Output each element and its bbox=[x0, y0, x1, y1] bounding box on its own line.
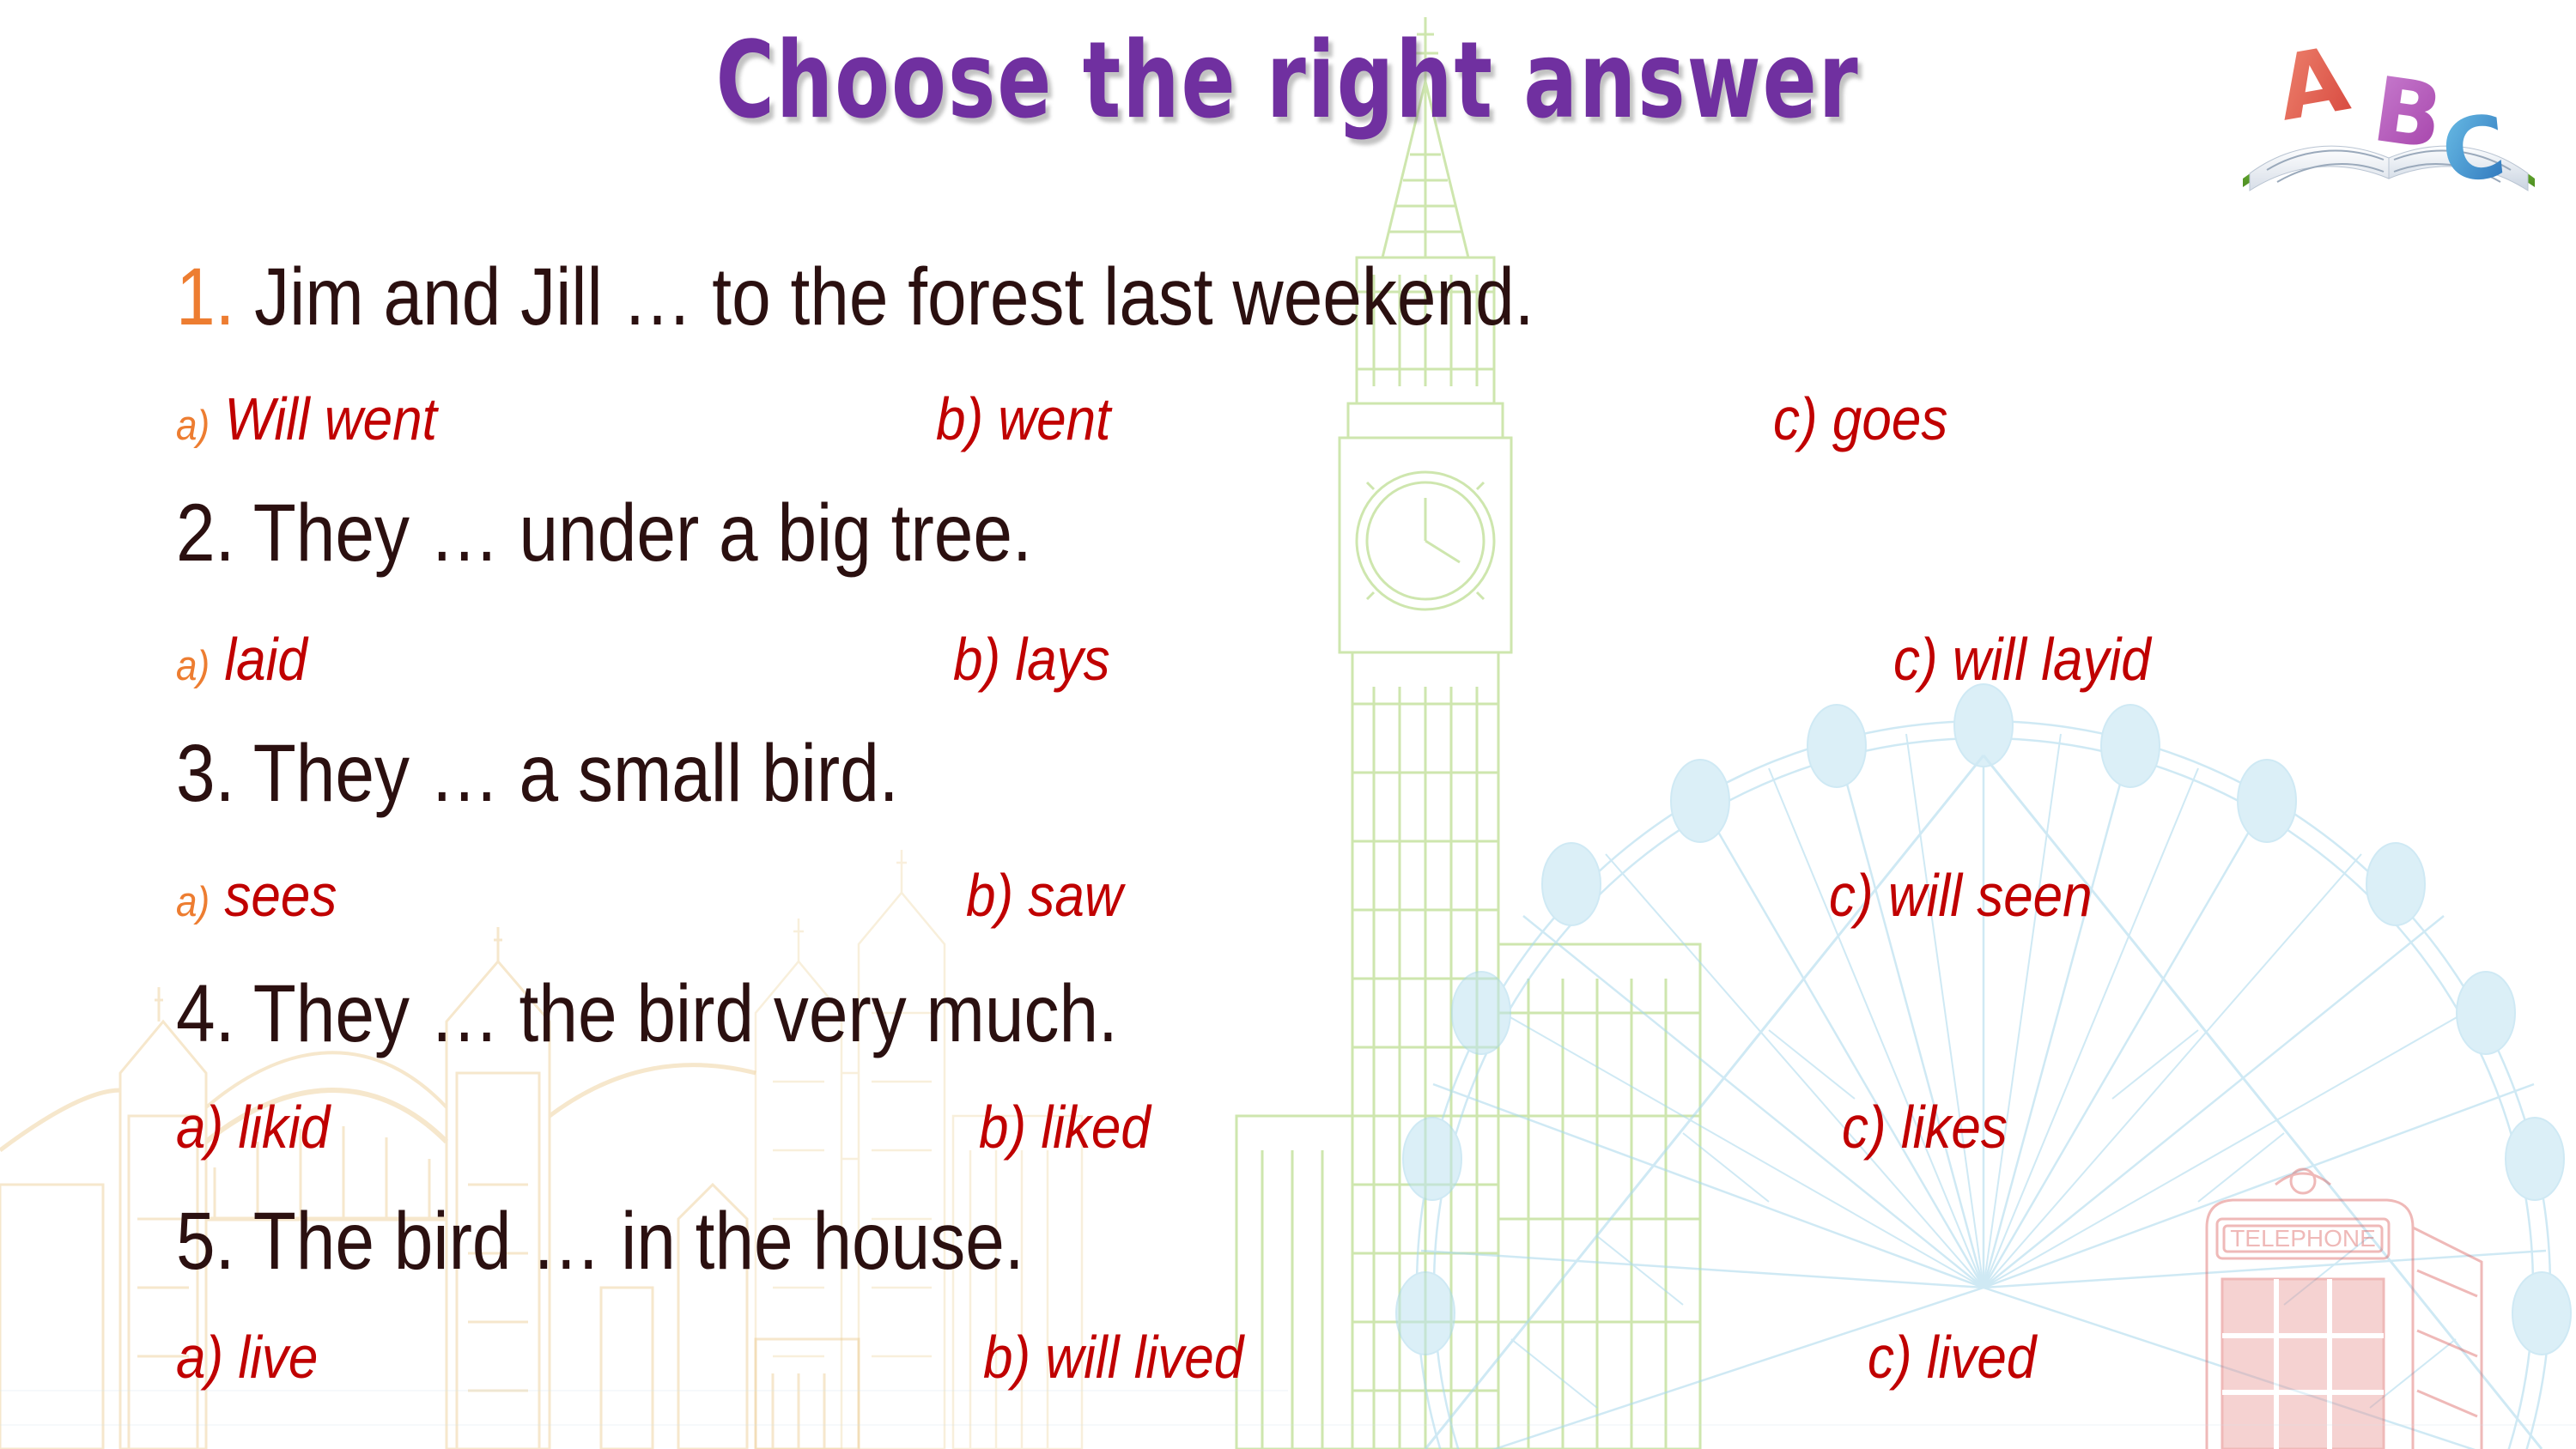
question-sentence: Jim and Jill … to the forest last weeken… bbox=[234, 252, 1534, 343]
option-text: Will went bbox=[210, 387, 437, 453]
option-label: a) bbox=[176, 878, 210, 925]
option-text: live bbox=[223, 1325, 318, 1391]
question-text: 1. Jim and Jill … to the forest last wee… bbox=[176, 258, 1534, 338]
option-text: likid bbox=[223, 1095, 330, 1161]
page-title: Choose the right answer bbox=[0, 19, 2576, 115]
option-label: c) bbox=[1773, 387, 1818, 453]
option-text: lays bbox=[1000, 627, 1109, 694]
option-text: goes bbox=[1818, 387, 1948, 453]
question-sentence: They … under a big tree. bbox=[234, 488, 1031, 579]
answer-option-c[interactable]: c) will layid bbox=[1893, 631, 2151, 690]
question-number: 2. bbox=[176, 488, 234, 579]
abc-book-icon: A B C bbox=[2233, 10, 2559, 199]
answer-option-c[interactable]: c) will seen bbox=[1829, 867, 2093, 926]
question-sentence: They … a small bird. bbox=[234, 729, 898, 819]
letter-a-icon: A bbox=[2269, 26, 2355, 141]
option-label: a) bbox=[176, 1095, 223, 1161]
option-label: c) bbox=[1842, 1095, 1886, 1161]
answer-option-b[interactable]: b) lays bbox=[953, 631, 1110, 690]
answer-option-a[interactable]: a) laid bbox=[176, 631, 307, 696]
option-row: a) laidb) laysc) will layid bbox=[0, 631, 2576, 691]
option-text: will lived bbox=[1030, 1325, 1243, 1391]
question-number: 3. bbox=[176, 729, 234, 819]
answer-option-a[interactable]: a) Will went bbox=[176, 391, 437, 456]
option-label: b) bbox=[979, 1095, 1026, 1161]
option-text: likes bbox=[1886, 1095, 2008, 1161]
question-text: 5. The bird … in the house. bbox=[176, 1202, 1024, 1282]
option-text: will seen bbox=[1874, 864, 2093, 930]
option-label: b) bbox=[953, 627, 1000, 694]
abc-book-svg: A B C bbox=[2233, 10, 2559, 199]
option-label: a) bbox=[176, 402, 210, 449]
option-label: c) bbox=[1868, 1325, 1912, 1391]
letter-c-icon: C bbox=[2437, 96, 2510, 199]
question-text: 3. They … a small bird. bbox=[176, 734, 899, 815]
question-sentence: They … the bird very much. bbox=[234, 969, 1117, 1059]
option-label: b) bbox=[966, 864, 1013, 930]
question-text: 2. They … under a big tree. bbox=[176, 494, 1032, 574]
quiz-slide: TELEPHONE Choose the right answer bbox=[0, 0, 2576, 1449]
answer-option-b[interactable]: b) liked bbox=[979, 1099, 1151, 1158]
option-label: c) bbox=[1829, 864, 1874, 930]
option-label: a) bbox=[176, 1325, 223, 1391]
answer-option-b[interactable]: b) will lived bbox=[983, 1329, 1243, 1388]
answer-option-b[interactable]: b) saw bbox=[966, 867, 1123, 926]
option-row: a) Will wentb) wentc) goes bbox=[0, 391, 2576, 451]
question-number: 1. bbox=[176, 252, 234, 343]
question-text: 4. They … the bird very much. bbox=[176, 974, 1118, 1055]
question-number: 5. bbox=[176, 1197, 234, 1287]
answer-option-a[interactable]: a) live bbox=[176, 1329, 318, 1388]
page-title-text: Choose the right answer bbox=[716, 19, 1860, 142]
question-number: 4. bbox=[176, 969, 234, 1059]
option-label: c) bbox=[1893, 627, 1938, 694]
question-sentence: The bird … in the house. bbox=[234, 1197, 1024, 1287]
letter-b-icon: B bbox=[2367, 57, 2449, 170]
option-row: a) liveb) will livedc) lived bbox=[0, 1329, 2576, 1389]
option-text: saw bbox=[1013, 864, 1122, 930]
option-row: a) seesb) sawc) will seen bbox=[0, 867, 2576, 927]
answer-option-c[interactable]: c) goes bbox=[1773, 391, 1947, 450]
option-text: will layid bbox=[1938, 627, 2151, 694]
option-label: b) bbox=[936, 387, 983, 453]
option-text: liked bbox=[1026, 1095, 1151, 1161]
option-text: sees bbox=[210, 864, 337, 930]
answer-option-b[interactable]: b) went bbox=[936, 391, 1110, 450]
option-row: a) likidb) likedc) likes bbox=[0, 1099, 2576, 1159]
option-text: went bbox=[983, 387, 1110, 453]
option-text: lived bbox=[1912, 1325, 2037, 1391]
option-text: laid bbox=[210, 627, 307, 694]
answer-option-c[interactable]: c) likes bbox=[1842, 1099, 2008, 1158]
answer-option-c[interactable]: c) lived bbox=[1868, 1329, 2036, 1388]
option-label: b) bbox=[983, 1325, 1030, 1391]
answer-option-a[interactable]: a) likid bbox=[176, 1099, 330, 1158]
option-label: a) bbox=[176, 642, 210, 689]
quiz-content: 1. Jim and Jill … to the forest last wee… bbox=[0, 0, 2576, 1449]
answer-option-a[interactable]: a) sees bbox=[176, 867, 337, 932]
